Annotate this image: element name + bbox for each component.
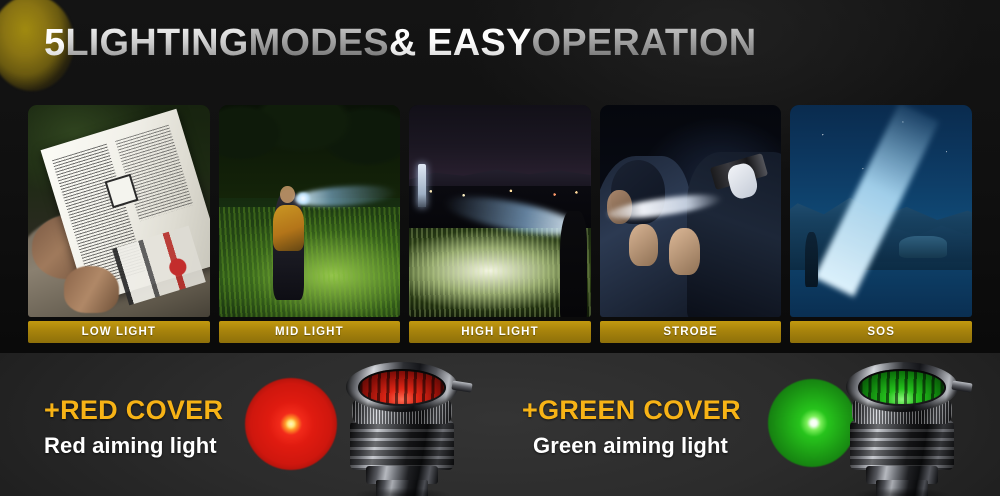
mode-label-mid-light: MID LIGHT [219,321,401,343]
title-segment-modes: MODES [248,24,388,62]
mode-photo-strobe [600,105,782,317]
flashlight-reflector-green [860,371,944,404]
title-segment-operation: OPERATION [532,24,757,62]
mode-panel-mid-light[interactable]: MID LIGHT [219,105,401,343]
mode-photo-sos [790,105,972,317]
mode-photo-mid-light [219,105,401,317]
mode-photo-low-light [28,105,210,317]
title-segment-easy: & EASY [389,24,532,62]
mode-label-sos: SOS [790,321,972,343]
mode-label-high-light: HIGH LIGHT [409,321,591,343]
red-cover-title: +RED COVER [44,397,223,424]
page-title: 5 LIGHTING MODES & EASY OPERATION [44,24,756,62]
red-aiming-glow [245,378,337,470]
flashlight-head-red [336,362,468,496]
green-cover-subtitle: Green aiming light [533,435,728,457]
mode-panel-grid: LOW LIGHT MID LIGHT HIGH LIGHT [28,105,972,343]
lighting-modes-section: 5 LIGHTING MODES & EASY OPERATION LOW LI… [0,0,1000,353]
mode-panel-low-light[interactable]: LOW LIGHT [28,105,210,343]
flashlight-head-green [836,362,968,496]
mode-label-strobe: STROBE [600,321,782,343]
mode-panel-strobe[interactable]: STROBE [600,105,782,343]
green-cover-title: +GREEN COVER [522,397,741,424]
mode-label-low-light: LOW LIGHT [28,321,210,343]
product-feature-banner: 5 LIGHTING MODES & EASY OPERATION LOW LI… [0,0,1000,496]
red-cover-subtitle: Red aiming light [44,435,217,457]
mode-panel-sos[interactable]: SOS [790,105,972,343]
title-segment-count: 5 [44,24,65,62]
mode-panel-high-light[interactable]: HIGH LIGHT [409,105,591,343]
title-segment-lighting: LIGHTING [65,24,248,62]
mode-photo-high-light [409,105,591,317]
flashlight-reflector-red [360,371,444,404]
